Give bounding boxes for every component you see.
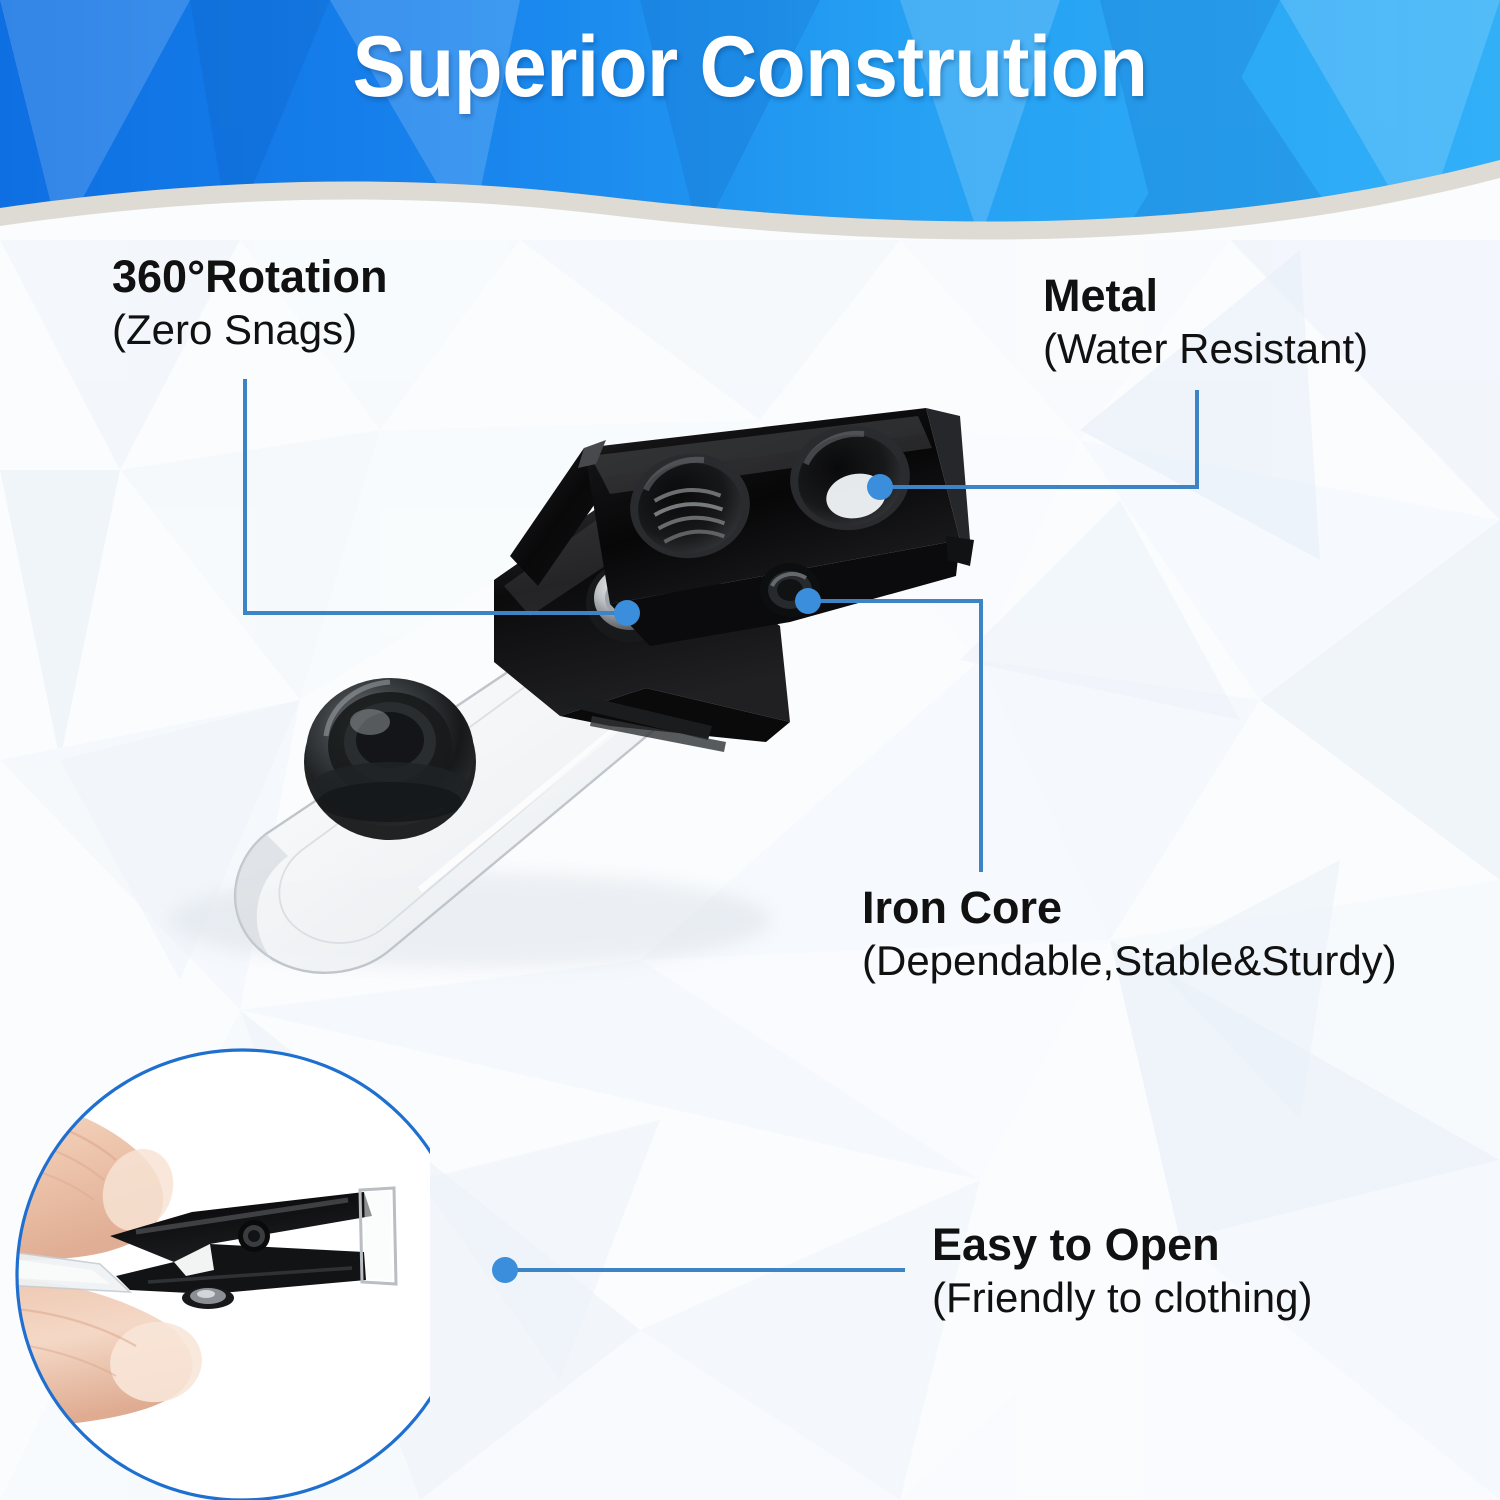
- main-product-image: [90, 390, 990, 1030]
- header-wave-shape: [0, 0, 1500, 240]
- callout-easy-open: Easy to Open (Friendly to clothing): [932, 1221, 1312, 1321]
- callout-rotation-title: 360°Rotation: [112, 253, 388, 302]
- snap-button: [304, 678, 476, 840]
- callout-rotation-subtitle: (Zero Snags): [112, 306, 388, 353]
- callout-metal-subtitle: (Water Resistant): [1043, 325, 1368, 372]
- callout-iron-core-subtitle: (Dependable,Stable&Sturdy): [862, 937, 1397, 984]
- callout-iron-core: Iron Core (Dependable,Stable&Sturdy): [862, 884, 1397, 984]
- callout-iron-core-title: Iron Core: [862, 884, 1397, 933]
- callout-rotation: 360°Rotation (Zero Snags): [112, 253, 388, 353]
- clip-screw-hole: [760, 563, 820, 617]
- callout-metal-title: Metal: [1043, 272, 1368, 321]
- header-banner: Superior Constrution: [0, 0, 1500, 240]
- inset-photo-easy-open: [0, 1040, 430, 1500]
- callout-easy-open-title: Easy to Open: [932, 1221, 1312, 1270]
- callout-metal: Metal (Water Resistant): [1043, 272, 1368, 372]
- callout-easy-open-subtitle: (Friendly to clothing): [932, 1274, 1312, 1321]
- product-infographic: Superior Constrution: [0, 0, 1500, 1500]
